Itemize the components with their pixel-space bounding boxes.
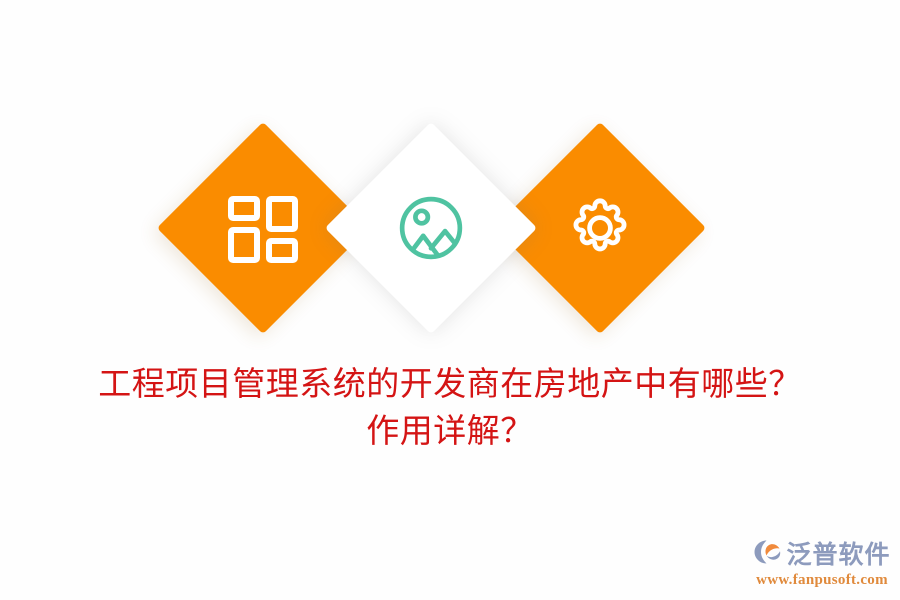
brand-name: 泛普软件 xyxy=(786,542,890,567)
fanpu-leaf-logo-icon xyxy=(753,539,783,570)
hero-tile-image[interactable] xyxy=(325,122,537,334)
page-canvas: 工程项目管理系统的开发商在房地产中有哪些？ 作用详解？ 泛普软件 www.fan… xyxy=(0,0,900,600)
brand-watermark: 泛普软件 www.fanpusoft.com xyxy=(752,539,892,588)
page-title: 工程项目管理系统的开发商在房地产中有哪些？ 作用详解？ xyxy=(0,362,900,456)
grid-dashboard-icon xyxy=(188,153,338,303)
hero-diamond-cluster xyxy=(0,0,900,360)
image-photo-icon xyxy=(356,153,506,303)
brand-url: www.fanpusoft.com xyxy=(752,573,892,588)
page-title-line-2: 作用详解？ xyxy=(0,409,900,456)
gear-settings-icon xyxy=(525,153,675,303)
page-title-line-1: 工程项目管理系统的开发商在房地产中有哪些？ xyxy=(0,362,900,409)
brand-lockup: 泛普软件 xyxy=(752,539,892,570)
